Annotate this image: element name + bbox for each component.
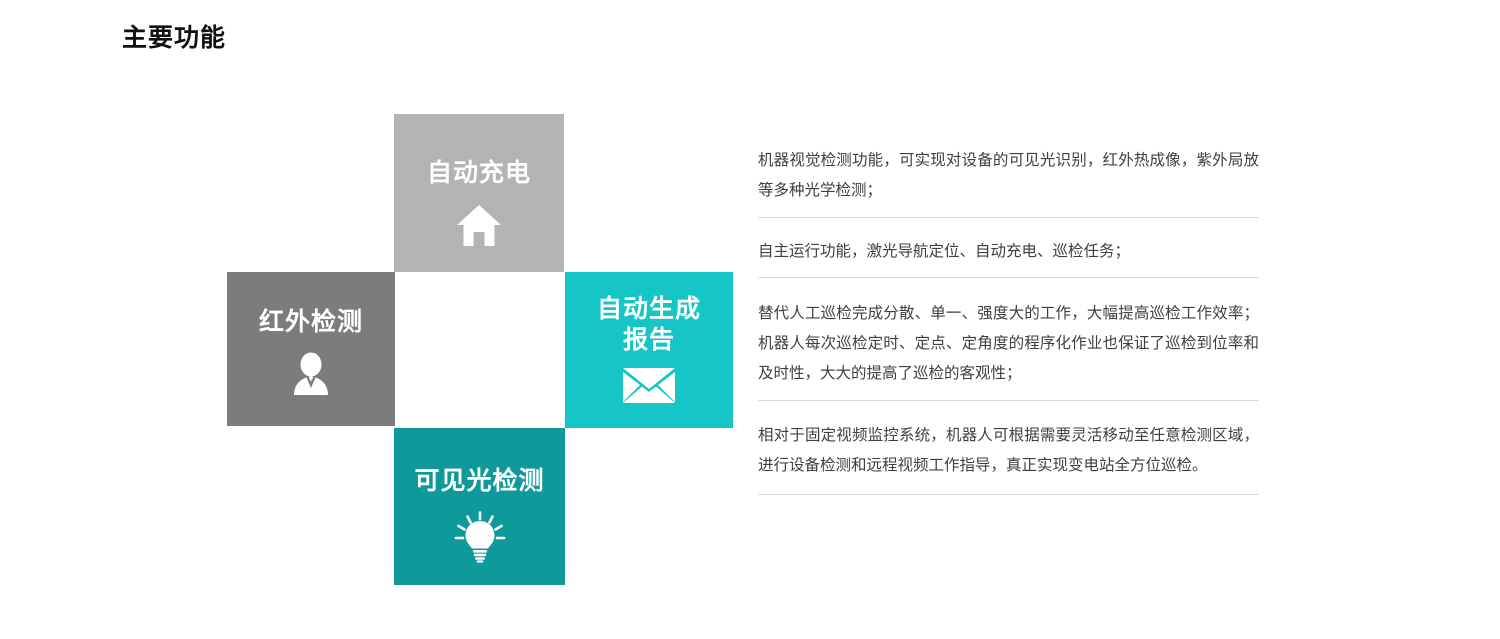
- feature-description-text: 自主运行功能，激光导航定位、自动充电、巡检任务；: [758, 236, 1259, 266]
- feature-description-list: 机器视觉检测功能，可实现对设备的可见光识别，红外热成像，紫外局放等多种光学检测；…: [758, 145, 1259, 495]
- divider: [758, 494, 1259, 495]
- divider: [758, 217, 1259, 218]
- tile-auto-report[interactable]: 自动生成 报告: [565, 272, 733, 428]
- tile-infrared-detection[interactable]: 红外检测: [227, 272, 395, 426]
- tile-visible-light-detection-label: 可见光检测: [414, 466, 544, 497]
- feature-tile-cross: 自动充电 红外检测 自动生成 报告: [0, 0, 760, 639]
- envelope-icon: [621, 365, 677, 405]
- feature-description-text: 替代人工巡检完成分散、单一、强度大的工作，大幅提高巡检工作效率；机器人每次巡检定…: [758, 298, 1259, 388]
- feature-description-text: 相对于固定视频监控系统，机器人可根据需要灵活移动至任意检测区域，进行设备检测和远…: [758, 420, 1259, 480]
- tile-auto-charging-label: 自动充电: [427, 158, 531, 189]
- tile-visible-light-detection[interactable]: 可见光检测: [394, 428, 565, 585]
- feature-description-text: 机器视觉检测功能，可实现对设备的可见光识别，红外热成像，紫外局放等多种光学检测；: [758, 145, 1259, 205]
- tile-infrared-detection-label: 红外检测: [259, 307, 363, 338]
- lightbulb-icon: [452, 511, 508, 563]
- divider: [758, 277, 1259, 278]
- tile-auto-report-label: 自动生成 报告: [597, 294, 701, 355]
- tile-auto-charging[interactable]: 自动充电: [394, 114, 564, 272]
- person-icon: [288, 352, 334, 398]
- home-icon: [455, 203, 503, 248]
- feature-description-item: 机器视觉检测功能，可实现对设备的可见光识别，红外热成像，紫外局放等多种光学检测；: [758, 145, 1259, 217]
- feature-description-item: 自主运行功能，激光导航定位、自动充电、巡检任务；: [758, 236, 1259, 277]
- feature-description-item: 替代人工巡检完成分散、单一、强度大的工作，大幅提高巡检工作效率；机器人每次巡检定…: [758, 298, 1259, 400]
- divider: [758, 400, 1259, 401]
- feature-description-item: 相对于固定视频监控系统，机器人可根据需要灵活移动至任意检测区域，进行设备检测和远…: [758, 420, 1259, 494]
